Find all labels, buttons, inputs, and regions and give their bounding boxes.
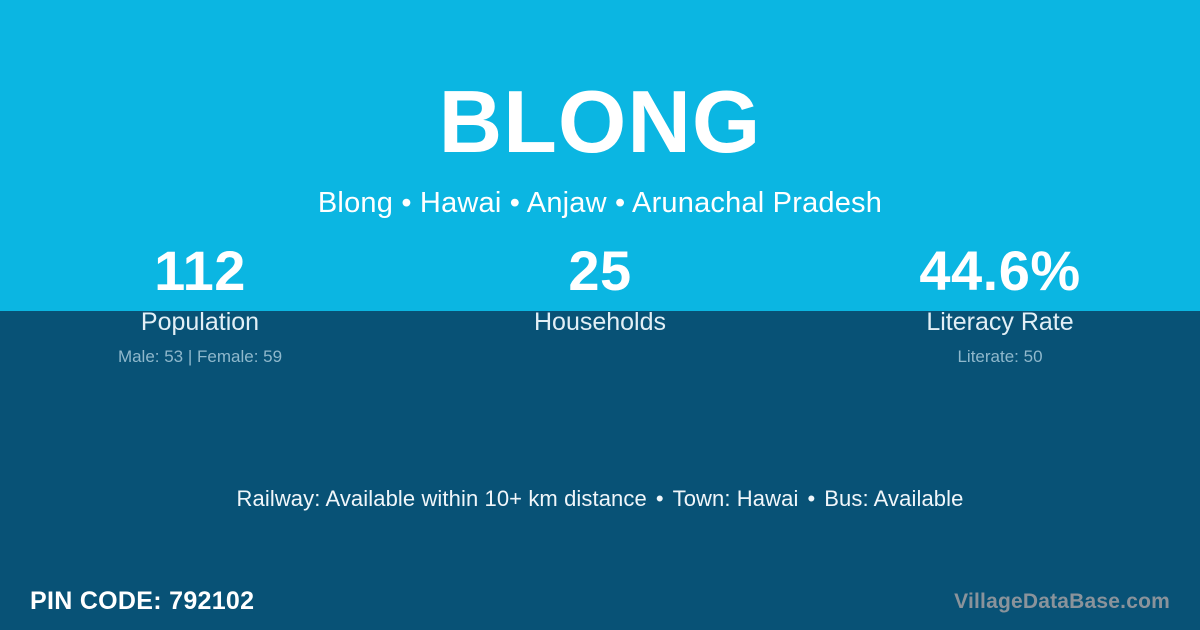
stats-row: 112 Population Male: 53 | Female: 59 25 … xyxy=(0,240,1200,367)
stat-value: 25 xyxy=(400,240,800,303)
stat-sublabel: Male: 53 | Female: 59 xyxy=(0,348,400,367)
stat-label: Population xyxy=(0,309,400,337)
transport-info: Railway: Available within 10+ km distanc… xyxy=(0,486,1200,512)
breadcrumb: Blong • Hawai • Anjaw • Arunachal Prades… xyxy=(0,188,1200,220)
town-info: Town: Hawai xyxy=(673,486,799,511)
bullet-separator-icon: • xyxy=(647,486,673,511)
stat-value: 44.6% xyxy=(800,240,1200,303)
railway-info: Railway: Available within 10+ km distanc… xyxy=(237,486,647,511)
card-header: BLONG Blong • Hawai • Anjaw • Arunachal … xyxy=(0,0,1200,220)
stat-population: 112 Population Male: 53 | Female: 59 xyxy=(0,240,400,367)
village-info-card: BLONG Blong • Hawai • Anjaw • Arunachal … xyxy=(0,0,1200,630)
page-title: BLONG xyxy=(0,78,1200,166)
site-branding: VillageDataBase.com xyxy=(954,591,1170,612)
stat-label: Literacy Rate xyxy=(800,309,1200,337)
stat-sublabel: Literate: 50 xyxy=(800,348,1200,367)
stat-sublabel xyxy=(400,348,800,367)
pin-code: PIN CODE: 792102 xyxy=(30,589,254,614)
card-footer: PIN CODE: 792102 VillageDataBase.com xyxy=(0,572,1200,630)
bus-info: Bus: Available xyxy=(824,486,963,511)
stat-households: 25 Households xyxy=(400,240,800,367)
stat-label: Households xyxy=(400,309,800,337)
stat-literacy-rate: 44.6% Literacy Rate Literate: 50 xyxy=(800,240,1200,367)
stat-value: 112 xyxy=(0,240,400,303)
bullet-separator-icon: • xyxy=(798,486,824,511)
